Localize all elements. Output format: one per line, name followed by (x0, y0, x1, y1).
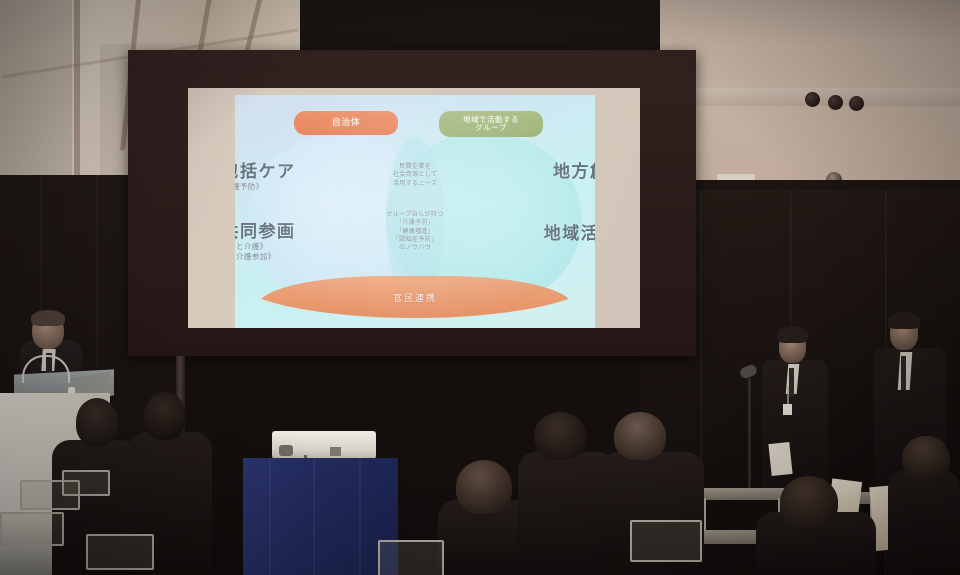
audience-member (888, 470, 960, 575)
audience-head (780, 476, 838, 528)
projector-lens-icon (279, 445, 293, 456)
speaker-hair (31, 310, 65, 326)
ceiling-speaker-icon (805, 92, 820, 107)
slide-bottom-banner-label: 官民連携 (257, 291, 573, 304)
slide-overlap-upper-line-2: 社会資源として (235, 171, 595, 179)
chair-back (62, 470, 110, 496)
audience-head (902, 436, 950, 480)
ceiling-speaker-icon (828, 95, 843, 110)
audience-head (614, 412, 666, 460)
ceiling-speaker-icon (849, 96, 864, 111)
slide-overlap-lower: グループ自らが持つ 「介護予防」 「健康増進」 「認知症予防」 のノウハウ (235, 211, 595, 253)
slide-pill-group: 地域で活動する グループ (439, 111, 543, 137)
slide-pill-government-label: 自治体 (332, 118, 361, 127)
slide-left-item-2-sub-2: 《男性の介護参加》 (235, 252, 420, 261)
microphone-stand-pole (748, 378, 751, 498)
chair-back (700, 488, 784, 500)
audience-head (144, 392, 186, 440)
chair-back (86, 534, 154, 570)
slide-overlap-lower-line-5: のノウハウ (235, 244, 595, 252)
conference-hall-photo: 自治体 地域で活動する グループ 地域包括ケア 《介護予防》 男女共同参画 《仕… (0, 0, 960, 575)
projected-slide: 自治体 地域で活動する グループ 地域包括ケア 《介護予防》 男女共同参画 《仕… (235, 95, 595, 328)
chair-back (0, 512, 64, 546)
audience-head (534, 412, 586, 460)
slide-overlap-lower-line-2: 「介護予防」 (235, 219, 595, 227)
chair-back (378, 540, 444, 575)
slide-overlap-upper: 民間企業を 社会資源として 活用するニーズ (235, 163, 595, 188)
projector-port (330, 447, 341, 456)
slide-pill-government: 自治体 (294, 111, 398, 135)
audience-head (456, 460, 512, 514)
hall-wall-rail (690, 88, 960, 106)
slide-overlap-upper-line-3: 活用するニーズ (235, 180, 595, 188)
chair-back (630, 520, 702, 562)
projector-draped-table (243, 458, 398, 575)
slide-pill-group-label-line2: グループ (475, 124, 507, 132)
slide-overlap-lower-line-3: 「健康増進」 (235, 228, 595, 236)
audience-head (76, 398, 118, 446)
